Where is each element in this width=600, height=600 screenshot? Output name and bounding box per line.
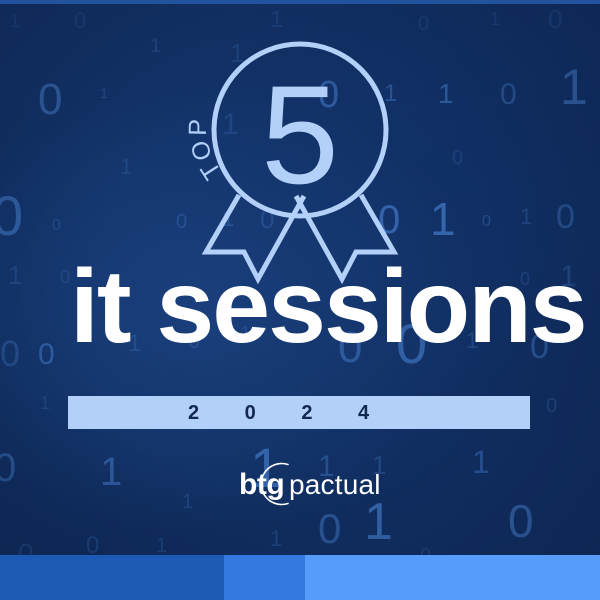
binary-digit: 0	[0, 336, 20, 372]
binary-digit: 1	[438, 80, 454, 108]
binary-digit: 1	[100, 86, 108, 100]
binary-digit: 1	[270, 528, 282, 550]
binary-digit: 0	[38, 78, 62, 122]
binary-digit: 1	[100, 452, 122, 492]
binary-digit: 1	[490, 10, 500, 28]
segment-medium-blue	[224, 555, 305, 600]
year-label: 2 0 2 4	[188, 403, 389, 423]
binary-digit: 1	[10, 12, 20, 30]
segment-bright-blue	[305, 555, 600, 600]
binary-digit: 1	[182, 492, 193, 512]
binary-digit: 0	[482, 214, 491, 230]
top5-award-badge: TOP 5	[196, 30, 404, 270]
logo-wordmark-pactual: pactual	[289, 469, 381, 500]
binary-digit: 0	[500, 80, 517, 110]
btg-pactual-logo: btg pactual	[225, 458, 385, 510]
binary-digit: 0	[0, 448, 16, 488]
badge-rank-number: 5	[261, 56, 339, 213]
segment-dark-blue	[0, 555, 224, 600]
binary-digit: 1	[120, 156, 132, 178]
year-banner: 2 0 2 4	[68, 396, 530, 429]
binary-digit: 0	[52, 218, 61, 234]
binary-digit: 0	[0, 188, 23, 244]
binary-digit: 0	[318, 508, 341, 550]
binary-digit: 0	[452, 148, 463, 168]
binary-digit: 1	[472, 446, 490, 478]
page-title: it sessions	[70, 255, 586, 359]
binary-digit: 0	[176, 212, 187, 232]
binary-digit: 1	[150, 36, 161, 56]
logo-mark-btg: btg	[239, 468, 284, 501]
binary-digit: 1	[270, 8, 283, 32]
poster-canvas: 0111011011000100101000101001001111100110…	[0, 0, 600, 600]
binary-digit: 0	[508, 498, 534, 544]
binary-digit: 1	[156, 536, 167, 556]
binary-digit: 0	[418, 14, 429, 34]
binary-digit: 0	[74, 10, 86, 32]
binary-digit: 1	[520, 206, 532, 228]
binary-digit: 0	[60, 268, 70, 286]
binary-digit: 1	[430, 196, 456, 242]
top-accent-strip	[0, 0, 600, 4]
binary-digit: 1	[40, 394, 50, 412]
binary-digit: 0	[38, 340, 55, 370]
binary-digit: 1	[8, 262, 22, 288]
binary-digit: 0	[556, 200, 575, 234]
bottom-color-bar	[0, 555, 600, 600]
binary-digit: 1	[560, 62, 588, 112]
binary-digit: 0	[546, 396, 557, 416]
binary-digit: 0	[548, 6, 562, 32]
